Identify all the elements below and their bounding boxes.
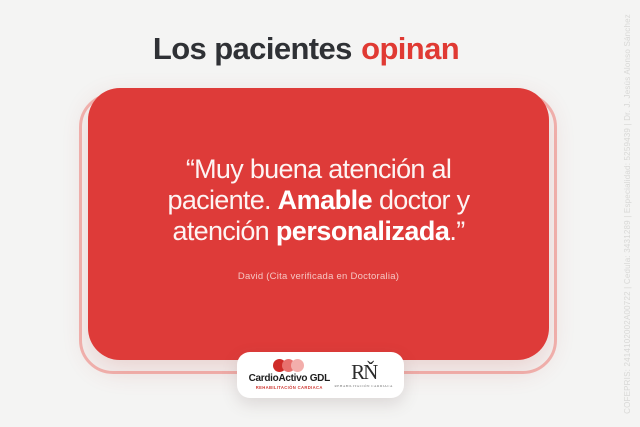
cardioactivo-subtitle: REHABILITACIÓN CARDIACA bbox=[256, 385, 323, 391]
close-quote-mark: ” bbox=[456, 216, 464, 246]
open-quote-mark: “ bbox=[186, 154, 194, 184]
circle-light-pink bbox=[291, 359, 304, 372]
poster-canvas: Los pacientesopinan “Muy buena atención … bbox=[0, 0, 640, 427]
cardioactivo-name: CardioActivo GDL bbox=[249, 373, 330, 384]
quote-line-2-post: doctor y bbox=[372, 185, 469, 215]
testimonial-attribution: David (Cita verificada en Doctoralia) bbox=[112, 270, 525, 283]
logo-badge: CardioActivo GDL REHABILITACIÓN CARDIACA… bbox=[237, 352, 404, 398]
cardioactivo-logo: CardioActivo GDL REHABILITACIÓN CARDIACA bbox=[246, 359, 332, 391]
quote-line-2-pre: paciente. bbox=[168, 185, 278, 215]
quote-line-3-pre: atención bbox=[173, 216, 276, 246]
quote-emphasis-amable: Amable bbox=[278, 185, 373, 215]
testimonial-quote: “Muy buena atención al paciente. Amable … bbox=[112, 154, 525, 247]
quote-line-1-text: Muy buena atención al bbox=[194, 154, 451, 184]
quote-line-3: atención personalizada.” bbox=[112, 216, 525, 247]
three-overlapping-circles-icon bbox=[273, 359, 304, 372]
rn-monogram-icon: RŇ bbox=[351, 362, 376, 383]
page-title-plain: Los pacientes bbox=[153, 31, 352, 66]
clinic-monogram-logo: RŇ REHABILITACIÓN CARDIACA bbox=[333, 362, 395, 389]
side-credit-strip: COFEPRIS: 2414102002A00722 | Cedula: 343… bbox=[616, 0, 638, 427]
quote-line-2: paciente. Amable doctor y bbox=[112, 185, 525, 216]
side-credit-text: COFEPRIS: 2414102002A00722 | Cedula: 343… bbox=[623, 14, 632, 414]
clinic-logo-subtitle: REHABILITACIÓN CARDIACA bbox=[335, 384, 393, 389]
page-title: Los pacientesopinan bbox=[0, 30, 612, 68]
quote-line-1: “Muy buena atención al bbox=[112, 154, 525, 185]
page-title-accent: opinan bbox=[361, 31, 459, 66]
testimonial-card: “Muy buena atención al paciente. Amable … bbox=[88, 88, 549, 360]
quote-emphasis-personalizada: personalizada bbox=[276, 216, 450, 246]
